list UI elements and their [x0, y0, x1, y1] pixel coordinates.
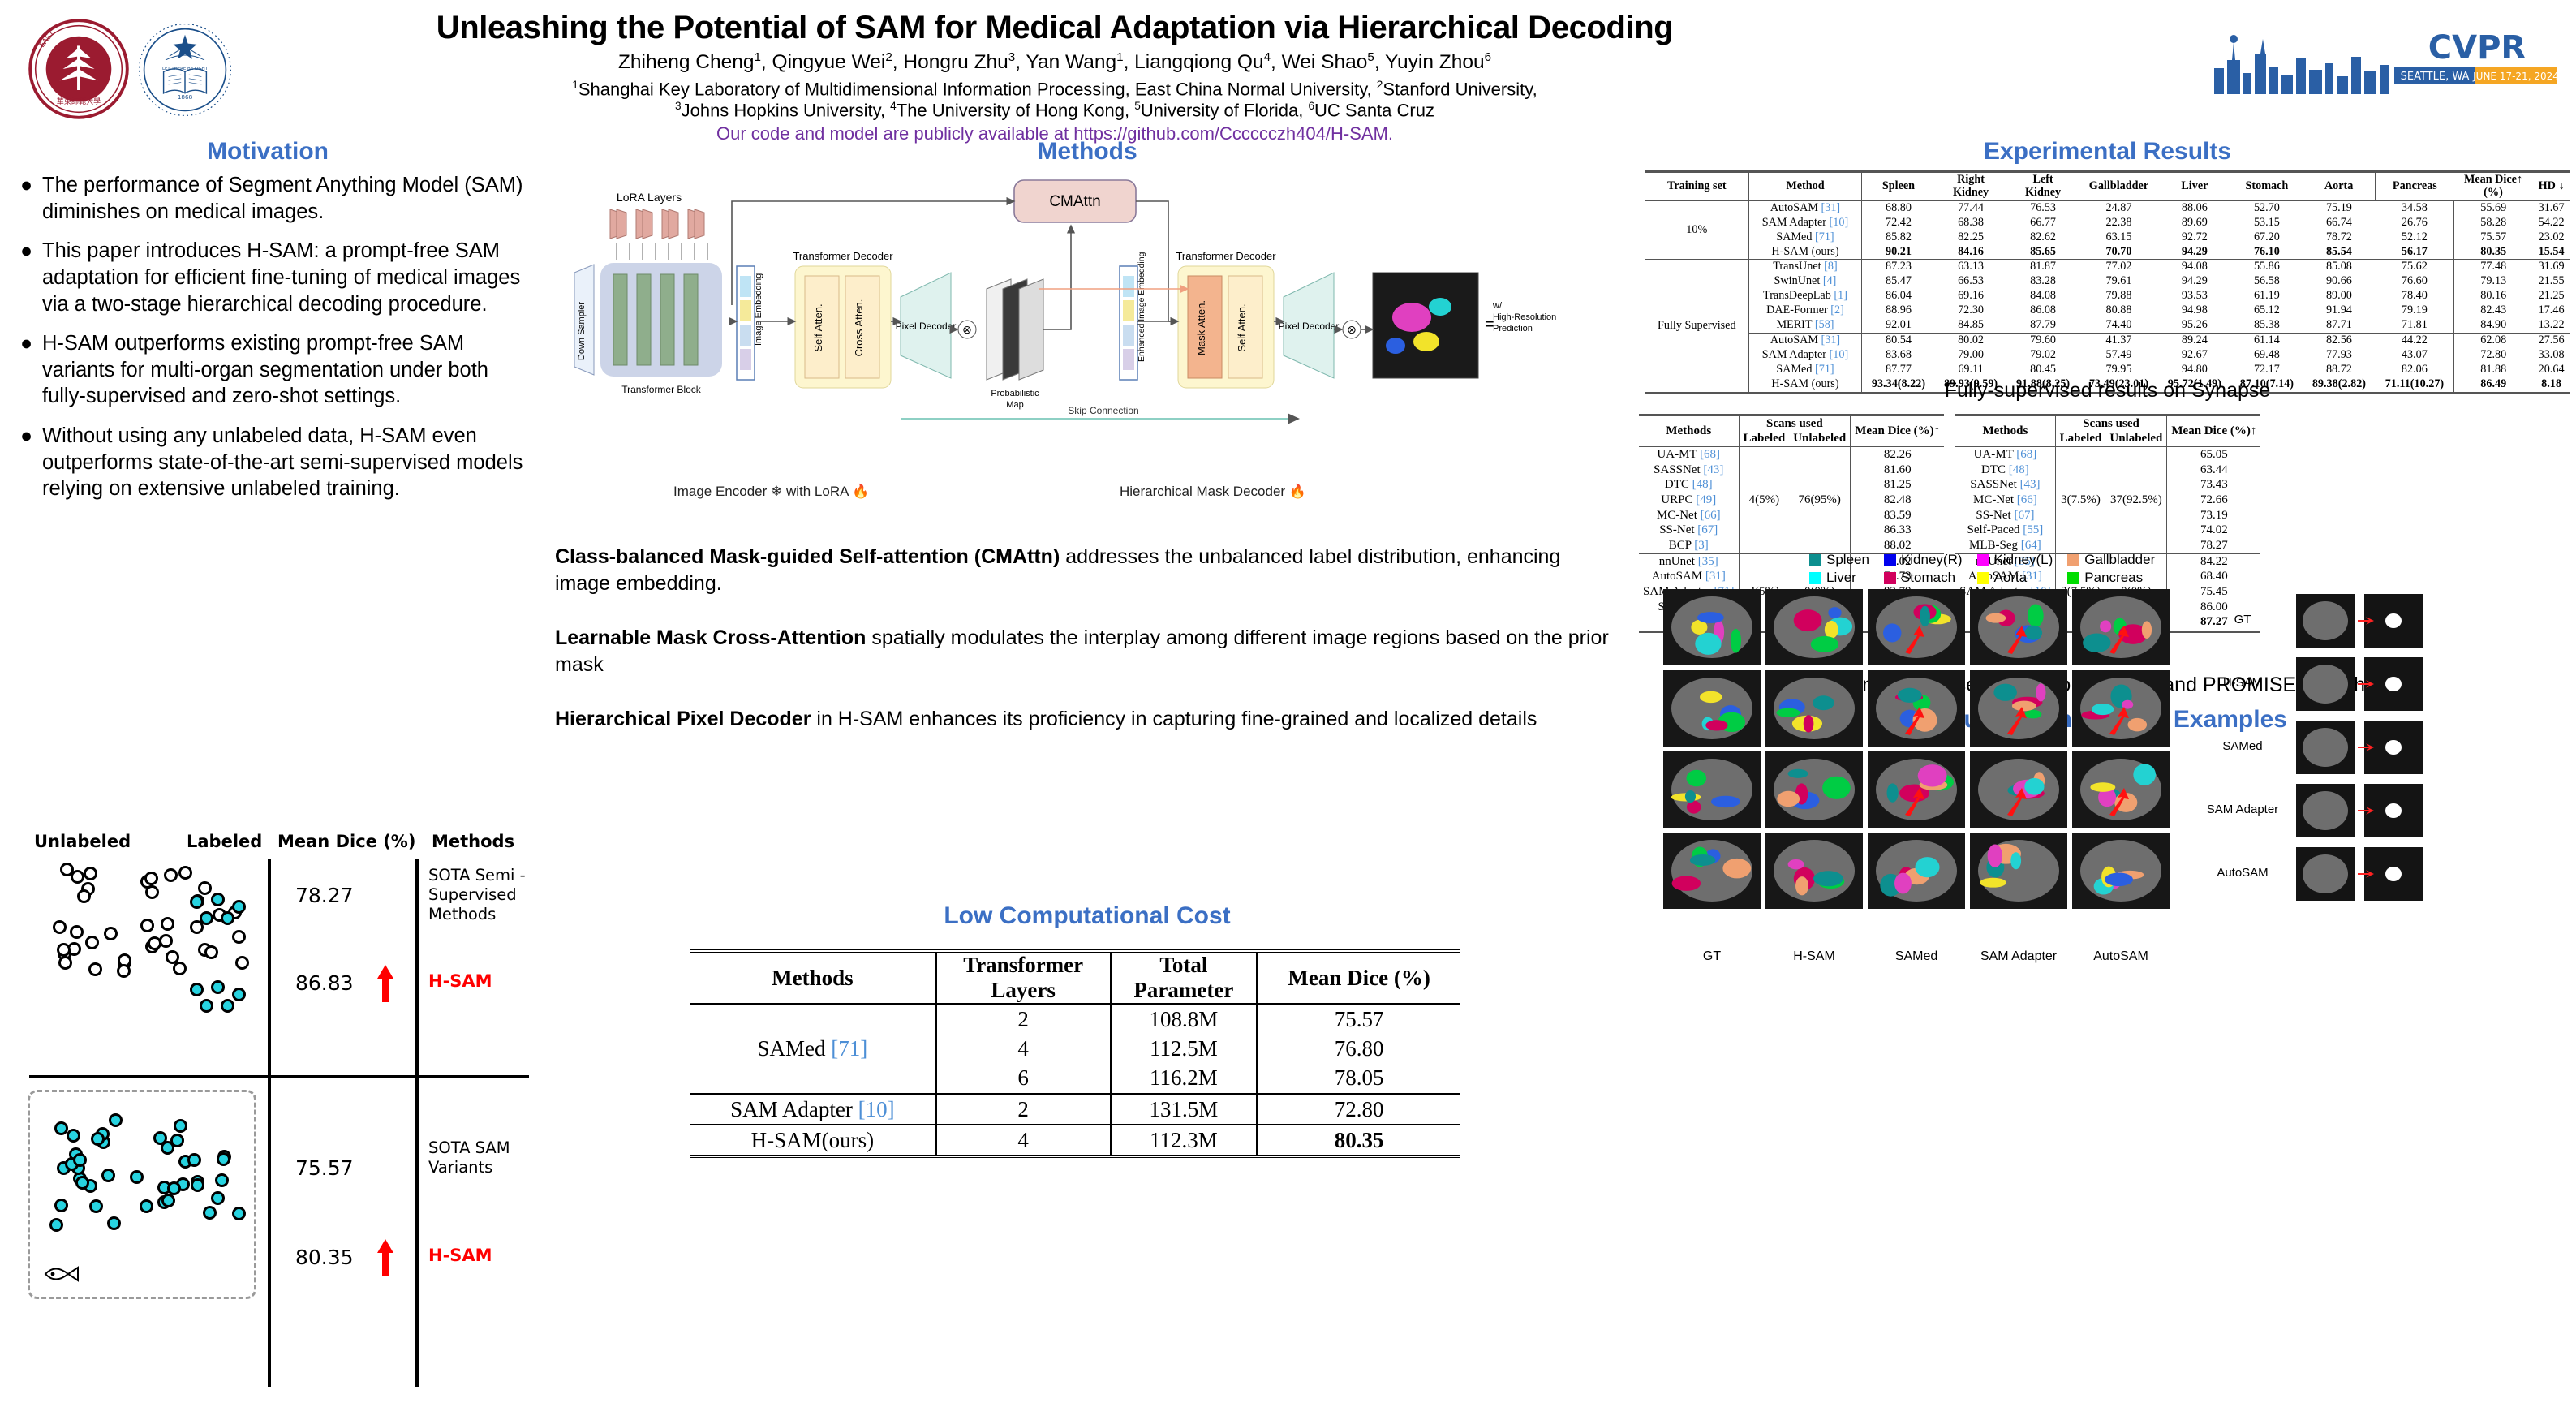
data-cell: 61.19: [2230, 289, 2303, 303]
motivation-bullet-text: H-SAM outperforms existing prompt-free S…: [42, 330, 526, 410]
organ-mask: [1722, 859, 1751, 878]
reference-link[interactable]: [71]: [826, 1036, 868, 1061]
method-name-cell: SwinUnet [4]: [1748, 274, 1862, 289]
dice-cell: 82.48: [1851, 493, 1944, 508]
column-header: Labeled: [1739, 432, 1789, 447]
organ-mask: [1695, 633, 1721, 655]
organ-mask: [2128, 718, 2148, 732]
reference-link[interactable]: [71]: [1812, 363, 1834, 376]
dice-cell: 68.40: [2167, 570, 2260, 585]
data-cell: 80.02: [1935, 333, 2007, 347]
labeled-sample-dot: [211, 980, 225, 994]
reference-link[interactable]: [68]: [1697, 448, 1720, 461]
dice-cell: 75.57: [1257, 1004, 1460, 1034]
layers-cell: 6: [936, 1063, 1111, 1093]
data-cell: 56.58: [2230, 274, 2303, 289]
dice-cell: 72.66: [2167, 493, 2260, 508]
data-cell: 84.16: [1935, 245, 2007, 260]
unlabeled-sample-dot: [232, 930, 246, 944]
data-cell: 15.54: [2532, 245, 2570, 260]
results-column: Experimental Results Training setMethodS…: [1639, 138, 2576, 1290]
data-cell: 76.53: [2007, 200, 2079, 215]
method-paragraph: Class-balanced Mask-guided Self-attentio…: [555, 544, 1618, 596]
author-list: Zhiheng Cheng1, Qingyue Wei2, Hongru Zhu…: [243, 50, 1866, 74]
organ-mask: [2142, 621, 2152, 639]
svg-text:Probabilistic: Probabilistic: [991, 389, 1039, 398]
legend-swatch: [2067, 554, 2079, 566]
data-cell: 84.85: [1935, 318, 2007, 333]
data-cell: 66.74: [2303, 216, 2375, 230]
legend-label: Gallbladder: [2084, 552, 2155, 568]
data-cell: 77.02: [2079, 260, 2159, 274]
svg-text:Transformer Decoder: Transformer Decoder: [1176, 250, 1276, 262]
method-name-cell: URPC [49]: [1639, 493, 1739, 508]
unlabeled-sample-dot: [71, 870, 84, 884]
unlabeled-sample-dot: [159, 934, 173, 948]
organ-mask: [2028, 605, 2044, 628]
motivation-figure: Unlabeled Labeled Mean Dice (%) Methods: [10, 832, 529, 1416]
reference-link[interactable]: [43]: [1701, 463, 1724, 476]
data-cell: 84.08: [2007, 289, 2079, 303]
method-paragraph-term: Hierarchical Pixel Decoder: [555, 708, 811, 730]
cvpr-dates-text: JUNE 17-21, 2024: [2472, 71, 2558, 82]
method-label: DTC: [1665, 478, 1689, 491]
labeled-sample-dot: [75, 1176, 89, 1190]
legend-label: Kidney(L): [1994, 552, 2053, 568]
organ-mask: [1915, 857, 1939, 877]
labeled-sample-dot: [190, 895, 204, 909]
reference-link[interactable]: [10]: [1826, 216, 1848, 229]
data-cell: 87.23: [1862, 260, 1935, 274]
table-header-row: MethodsScans usedMean Dice (%)↑: [1639, 415, 1944, 432]
unlabeled-sample-dot: [77, 889, 91, 903]
method-name-cell: SS-Net [67]: [1955, 508, 2055, 523]
legend-label: Aorta: [1994, 570, 2028, 586]
reference-link[interactable]: [67]: [2011, 509, 2035, 522]
method-label: SASSNet: [1970, 478, 2017, 491]
ct-body: [2303, 854, 2348, 893]
method-name-cell: SAM Adapter [10]: [690, 1094, 936, 1125]
labeled-sample-dot: [54, 1121, 68, 1135]
dice-cell: 83.59: [1851, 508, 1944, 523]
labeled-sample-dot: [73, 1153, 87, 1167]
unlabeled-sample-dot: [235, 956, 249, 970]
table-row: H-SAM (ours)90.2184.1685.6570.7094.2976.…: [1645, 245, 2570, 260]
data-cell: 52.70: [2230, 200, 2303, 215]
ct-body: [2303, 791, 2348, 830]
bullet-dot-icon: ●: [15, 330, 42, 410]
poster-root: 華東師範大學 EAST ·1868· LET THERE BE LIGHT: [0, 0, 2576, 1288]
data-cell: 31.67: [2532, 200, 2570, 215]
method-name-cell: DAE-Former [2]: [1748, 303, 1862, 318]
organ-mask: [1811, 636, 1838, 652]
method-paragraph: Hierarchical Pixel Decoder in H-SAM enha…: [555, 706, 1618, 733]
reference-link[interactable]: [68]: [2013, 448, 2036, 461]
segmentation-row-label: GT: [2234, 613, 2251, 626]
data-cell: 90.66: [2303, 274, 2375, 289]
data-cell: 76.10: [2230, 245, 2303, 260]
method-name-cell: BCP [3]: [1639, 539, 1739, 554]
svg-text:Self Atten.: Self Atten.: [1236, 303, 1248, 351]
figure-col-mean-dice: Mean Dice (%): [277, 832, 415, 851]
reference-link[interactable]: [35]: [1695, 555, 1718, 568]
affiliation-line-1: 1Shanghai Key Laboratory of Multidimensi…: [211, 78, 1899, 101]
figure-divider-vertical-2: [415, 859, 419, 1387]
data-cell: 21.25: [2532, 289, 2570, 303]
segmentation-column-label: GT: [1663, 949, 1761, 964]
motivation-heading: Motivation: [0, 138, 535, 166]
dice-cell: 80.35: [1257, 1125, 1460, 1156]
dice-cell: 73.43: [2167, 478, 2260, 493]
data-cell: 94.08: [2158, 260, 2230, 274]
ct-body: [2080, 840, 2161, 902]
organ-mask: [1687, 800, 1701, 813]
params-cell: 116.2M: [1111, 1063, 1258, 1093]
data-cell: 78.40: [2375, 289, 2453, 303]
data-cell: 87.77: [1862, 363, 1935, 377]
ct-body: [1671, 759, 1752, 820]
ecnu-logo-icon: 華東師範大學 EAST: [26, 16, 131, 122]
labeled-sample-dot: [200, 911, 213, 925]
method-name-cell: DTC [48]: [1639, 478, 1739, 493]
table-header-row: MethodsTransformerLayersTotalParameterMe…: [690, 951, 1460, 1004]
organ-mask: [2010, 852, 2021, 869]
legend-label: Spleen: [1826, 552, 1869, 568]
table-row: UA-MT [68]3(7.5%)37(92.5%)65.05: [1955, 447, 2260, 463]
method-label: TransUnet: [1773, 260, 1821, 273]
data-cell: 89.00: [2303, 289, 2375, 303]
data-cell: 75.19: [2303, 200, 2375, 215]
svg-text:Pixel Decoder: Pixel Decoder: [1279, 321, 1340, 332]
reference-link[interactable]: [10]: [1826, 348, 1848, 361]
data-cell: 85.82: [1862, 230, 1935, 245]
unlabeled-scans-cell: 76(95%): [1789, 447, 1851, 554]
organ-mask: [1776, 708, 1800, 717]
legend-swatch: [1884, 554, 1896, 566]
organ-mask: [2024, 710, 2041, 719]
segmentation-column-label: AutoSAM: [2072, 949, 2170, 964]
column-header: Gallbladder: [2079, 172, 2159, 201]
data-cell: 94.29: [2158, 245, 2230, 260]
dice-cell: 63.44: [2167, 463, 2260, 478]
unlabeled-sample-dot: [53, 920, 67, 934]
reference-link[interactable]: [31]: [1702, 570, 1726, 583]
ct-body: [1774, 840, 1855, 902]
figure-col-unlabeled: Unlabeled: [34, 832, 131, 851]
data-cell: 79.13: [2454, 274, 2532, 289]
method-label: MERIT: [1776, 318, 1812, 331]
labeled-sample-dot: [211, 1191, 225, 1205]
segmentation-row-label: SAM Adapter: [2207, 803, 2278, 816]
method-name-cell: Self-Paced [55]: [1955, 523, 2055, 539]
svg-text:Mask Atten.: Mask Atten.: [1195, 300, 1207, 355]
method-name-cell: DTC [48]: [1955, 463, 2055, 478]
data-cell: 34.58: [2375, 200, 2453, 215]
organ-mask: [2036, 683, 2045, 701]
figure-method-label: H-SAM: [428, 1246, 492, 1267]
column-header: TotalParameter: [1111, 951, 1258, 1004]
data-cell: 17.46: [2532, 303, 2570, 318]
organ-mask: [1795, 876, 1808, 895]
column-header: Methods: [1955, 415, 2055, 447]
data-cell: 68.38: [1935, 216, 2007, 230]
svg-text:=: =: [1485, 316, 1494, 334]
column-header: TransformerLayers: [936, 951, 1111, 1004]
data-cell: 44.22: [2375, 333, 2453, 347]
data-cell: 80.45: [2007, 363, 2079, 377]
legend-item: Kidney(R): [1884, 552, 1963, 568]
organ-mask: [2083, 633, 2110, 652]
method-name-cell: SAMed [71]: [1748, 230, 1862, 245]
table-row: UA-MT [68]4(5%)76(95%)82.26: [1639, 447, 1944, 463]
figure-dice-score: 86.83: [295, 971, 354, 995]
method-label: AutoSAM: [1652, 570, 1703, 583]
figure-method-label: H-SAM: [428, 971, 492, 992]
low-cost-heading: Low Computational Cost: [535, 902, 1639, 930]
method-paragraph-body: in H-SAM enhances its proficiency in cap…: [811, 708, 1537, 730]
labeled-scans-cell: 3(7.5%): [2055, 447, 2105, 554]
methods-column: Methods CMAttn LoRA Layers: [535, 138, 1639, 1290]
data-cell: 55.86: [2230, 260, 2303, 274]
reference-link[interactable]: [55]: [2020, 523, 2044, 536]
dice-cell: 76.80: [1257, 1034, 1460, 1063]
legend-item: Kidney(L): [1977, 552, 2053, 568]
data-cell: 27.56: [2532, 333, 2570, 347]
organ-mask: [1687, 770, 1707, 787]
reference-link[interactable]: [64]: [2018, 539, 2041, 552]
column-header: Mean Dice (%): [1257, 951, 1460, 1004]
table-row: SAM Adapter [10]72.4268.3866.7722.3889.6…: [1645, 216, 2570, 230]
ct-body: [2303, 601, 2348, 640]
column-header: Mean Dice↑(%): [2454, 172, 2532, 201]
method-label: H-SAM (ours): [1771, 245, 1838, 258]
legend-swatch: [1884, 572, 1896, 584]
svg-text:CMAttn: CMAttn: [1049, 193, 1100, 210]
reference-link[interactable]: [71]: [1812, 230, 1834, 243]
legend-label: Liver: [1826, 570, 1856, 586]
organ-mask: [1672, 876, 1701, 890]
data-cell: 85.08: [2303, 260, 2375, 274]
reference-link[interactable]: [58]: [1812, 318, 1834, 331]
figure-col-labeled: Labeled: [187, 832, 262, 851]
data-cell: 72.30: [1935, 303, 2007, 318]
table-row: AutoSAM [31]80.5480.0279.6041.3789.2461.…: [1645, 333, 2570, 347]
reference-link[interactable]: [1]: [1831, 289, 1847, 302]
data-cell: 77.93: [2303, 348, 2375, 363]
organ-mask: [1700, 691, 1722, 703]
data-cell: 69.16: [1935, 289, 2007, 303]
data-cell: 92.72: [2158, 230, 2230, 245]
data-cell: 54.22: [2532, 216, 2570, 230]
method-name-cell: H-SAM(ours): [690, 1125, 936, 1156]
legend-label: Stomach: [1901, 570, 1955, 586]
method-label: MC-Net: [1657, 509, 1697, 522]
data-cell: 82.25: [1935, 230, 2007, 245]
motivation-bullet: ●The performance of Segment Anything Mod…: [15, 172, 526, 225]
data-cell: 57.49: [2079, 348, 2159, 363]
reference-link[interactable]: [43]: [2017, 478, 2041, 491]
reference-link[interactable]: [48]: [1689, 478, 1713, 491]
cost-table-wrapper: MethodsTransformerLayersTotalParameterMe…: [690, 949, 1460, 1158]
method-label: nnUnet: [1659, 555, 1695, 568]
organ-mask: [1920, 606, 1930, 627]
unlabeled-sample-dot: [178, 866, 192, 880]
reference-link[interactable]: [66]: [1697, 509, 1721, 522]
labeled-sample-dot: [221, 999, 234, 1013]
table-row: SAMed [71]87.7769.1180.4579.9594.8072.17…: [1645, 363, 2570, 377]
column-header: Spleen: [1862, 172, 1935, 201]
reference-link[interactable]: [31]: [1818, 201, 1840, 214]
method-label: Self-Paced: [1967, 523, 2020, 536]
reference-link[interactable]: [31]: [1818, 334, 1840, 346]
data-cell: 69.11: [1935, 363, 2007, 377]
svg-text:Map: Map: [1006, 400, 1023, 410]
labeled-sample-dot: [54, 1199, 68, 1212]
params-cell: 112.5M: [1111, 1034, 1258, 1063]
organ-mask: [1822, 777, 1851, 799]
legend-swatch: [1809, 572, 1821, 584]
method-label: DAE-Former: [1766, 303, 1828, 316]
params-cell: 112.3M: [1111, 1125, 1258, 1156]
labeled-sample-dot: [191, 1178, 204, 1192]
decoder-caption: Hierarchical Mask Decoder 🔥: [1120, 484, 1306, 500]
legend-label: Pancreas: [2084, 570, 2143, 586]
svg-text:⊗: ⊗: [1347, 323, 1357, 336]
unlabeled-sample-dot: [161, 917, 174, 931]
figure-method-label: SOTA Semi -SupervisedMethods: [428, 866, 526, 923]
data-cell: 85.54: [2303, 245, 2375, 260]
reference-link[interactable]: [2]: [1828, 303, 1844, 316]
data-cell: 56.17: [2375, 245, 2453, 260]
column-header: Mean Dice (%)↑: [2167, 415, 2260, 447]
labeled-sample-dot: [211, 893, 225, 906]
bullet-dot-icon: ●: [15, 172, 42, 225]
svg-text:·1868·: ·1868·: [176, 93, 195, 101]
data-cell: 86.04: [1862, 289, 1935, 303]
affiliation-line-2: 3Johns Hopkins University, 4The Universi…: [211, 99, 1899, 122]
data-cell: 77.48: [2454, 260, 2532, 274]
unlabeled-sample-dot: [140, 919, 154, 932]
unlabeled-sample-dot: [84, 867, 97, 880]
reference-link[interactable]: [48]: [2006, 463, 2029, 476]
method-label: BCP: [1669, 539, 1692, 552]
organ-mask: [1988, 845, 2002, 867]
organ-mask: [1813, 871, 1843, 886]
data-cell: 66.53: [1935, 274, 2007, 289]
reference-link[interactable]: [66]: [2014, 493, 2037, 506]
labeled-sample-dot: [200, 999, 213, 1013]
organ-mask: [1788, 859, 1804, 869]
dice-cell: 73.19: [2167, 508, 2260, 523]
organ-mask: [1813, 695, 1834, 710]
organ-mask: [1887, 783, 1899, 802]
column-header: LeftKidney: [2007, 172, 2079, 201]
architecture-diagram: CMAttn LoRA Layers: [552, 175, 1623, 508]
organ-mask: [1894, 873, 1912, 894]
column-header: Labeled: [2055, 432, 2105, 447]
data-cell: 79.88: [2079, 289, 2159, 303]
cvpr-banner-icon: CVPR SEATTLE, WA JUNE 17-21, 2024: [2209, 21, 2558, 99]
data-cell: 87.79: [2007, 318, 2079, 333]
reference-link[interactable]: [67]: [1695, 523, 1718, 536]
labeled-sample-dot: [49, 1218, 63, 1232]
reference-link[interactable]: [3]: [1692, 539, 1709, 552]
params-cell: 131.5M: [1111, 1094, 1258, 1125]
dice-cell: 78.05: [1257, 1063, 1460, 1093]
layers-cell: 2: [936, 1004, 1111, 1034]
method-name-cell: SAMed [71]: [690, 1004, 936, 1094]
legend-swatch: [1809, 554, 1821, 566]
organ-mask: [1883, 623, 1902, 642]
labeled-sample-dot: [91, 1132, 105, 1146]
svg-text:Enhanced Image Embedding: Enhanced Image Embedding: [1137, 252, 1146, 362]
reference-link[interactable]: [8]: [1821, 260, 1838, 273]
results-heading: Experimental Results: [1639, 138, 2576, 166]
data-cell: 66.77: [2007, 216, 2079, 230]
data-cell: 88.06: [2158, 200, 2230, 215]
method-name-cell: TransDeepLab [1]: [1748, 289, 1862, 303]
method-label: UA-MT: [1657, 448, 1697, 461]
data-cell: 85.47: [1862, 274, 1935, 289]
organ-mask: [2122, 700, 2133, 709]
organ-mask: [2024, 778, 2044, 795]
unlabeled-dot-cloud: [44, 863, 247, 976]
data-cell: 61.14: [2230, 333, 2303, 347]
dice-cell: 65.05: [2167, 447, 2260, 463]
data-cell: 69.48: [2230, 348, 2303, 363]
labeled-sample-dot: [232, 900, 246, 914]
labeled-sample-dot: [215, 1173, 229, 1187]
cvpr-brand-text: CVPR: [2428, 29, 2526, 67]
column-header: Scans used: [2055, 415, 2167, 432]
reference-link[interactable]: [10]: [853, 1097, 895, 1121]
dice-cell: 81.60: [1851, 463, 1944, 478]
data-cell: 75.57: [2454, 230, 2532, 245]
unlabeled-sample-dot: [144, 872, 158, 885]
svg-text:EAST: EAST: [38, 29, 56, 49]
params-cell: 108.8M: [1111, 1004, 1258, 1034]
table-row: H-SAM(ours)4112.3M80.35: [690, 1125, 1460, 1156]
data-cell: 81.88: [2454, 363, 2532, 377]
reference-link[interactable]: [49]: [1692, 493, 1716, 506]
organ-mask: [2090, 782, 2115, 792]
method-name-cell: MERIT [58]: [1748, 318, 1862, 333]
data-cell: 91.94: [2303, 303, 2375, 318]
data-cell: 79.00: [1935, 348, 2007, 363]
svg-text:High-Resolution: High-Resolution: [1493, 312, 1556, 322]
page-title: Unleashing the Potential of SAM for Medi…: [243, 10, 1866, 46]
method-name-cell: SS-Net [67]: [1639, 523, 1739, 539]
ct-body: [2303, 728, 2348, 767]
lower-dot-cloud: [42, 1108, 245, 1229]
column-header: Scans used: [1739, 415, 1851, 432]
mask-blob: [2385, 740, 2402, 755]
reference-link[interactable]: [4]: [1820, 274, 1836, 287]
data-cell: 85.65: [2007, 245, 2079, 260]
dice-cell: 84.22: [2167, 554, 2260, 570]
data-cell: 68.80: [1862, 200, 1935, 215]
data-cell: 58.28: [2454, 216, 2532, 230]
method-label: AutoSAM: [1770, 334, 1818, 346]
organ-mask: [2092, 704, 2114, 715]
table-row: 10%AutoSAM [31]68.8077.4476.5324.8788.06…: [1645, 200, 2570, 215]
svg-text:Transformer Decoder: Transformer Decoder: [793, 250, 893, 262]
data-cell: 82.56: [2303, 333, 2375, 347]
method-label: SASSNet: [1654, 463, 1701, 476]
labeled-sample-dot: [170, 1134, 184, 1147]
method-label: SAM Adapter: [730, 1097, 853, 1121]
svg-text:⊗: ⊗: [962, 323, 972, 336]
